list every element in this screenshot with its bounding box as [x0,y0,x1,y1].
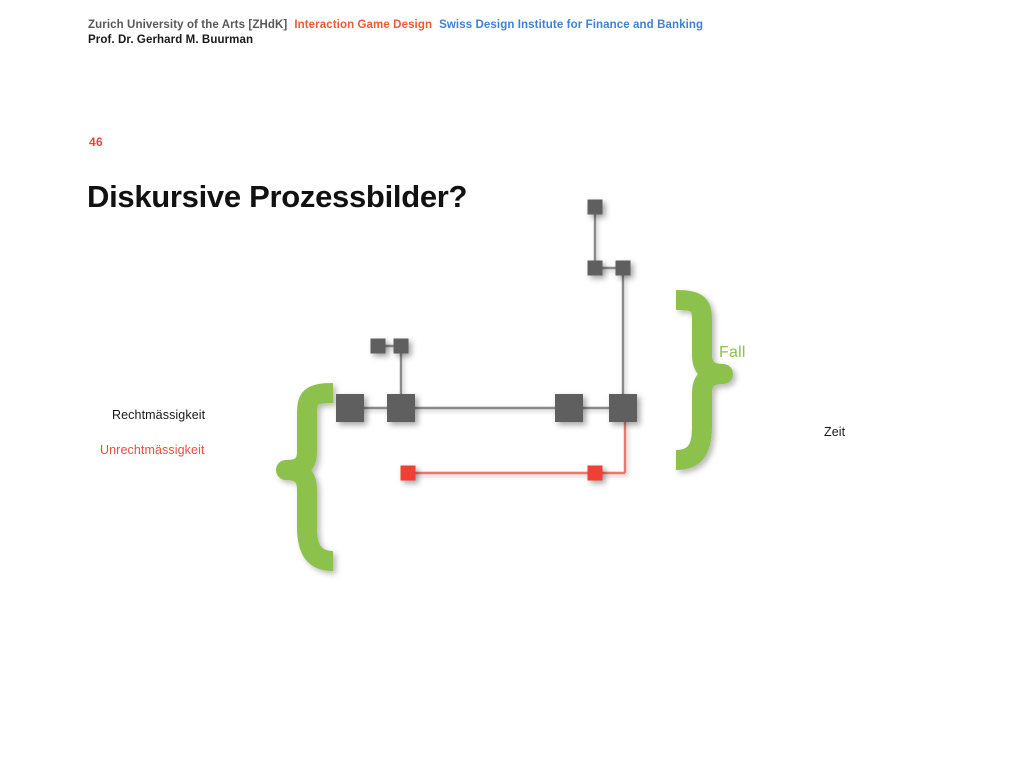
edges-grey [350,207,623,408]
node-n1[interactable] [336,394,364,422]
node-n5[interactable] [555,394,583,422]
node-n7[interactable] [588,261,603,276]
label-rechtmaessigkeit: Rechtmässigkeit [112,408,205,422]
left-brace-icon [286,393,333,561]
node-n9[interactable] [588,200,603,215]
node-n10[interactable] [401,466,416,481]
process-diagram: Rechtmässigkeit Unrechtmässigkeit Zeit F… [0,0,1024,768]
label-zeit: Zeit [824,425,845,439]
nodes-grey [336,200,637,423]
label-fall: Fall [719,344,746,362]
node-n6[interactable] [609,394,637,422]
node-n8[interactable] [616,261,631,276]
node-n2[interactable] [387,394,415,422]
node-n4[interactable] [394,339,409,354]
node-n11[interactable] [588,466,603,481]
edges-red [408,418,625,473]
node-n3[interactable] [371,339,386,354]
label-unrechtmaessigkeit: Unrechtmässigkeit [100,443,205,457]
right-brace-icon [676,300,723,460]
